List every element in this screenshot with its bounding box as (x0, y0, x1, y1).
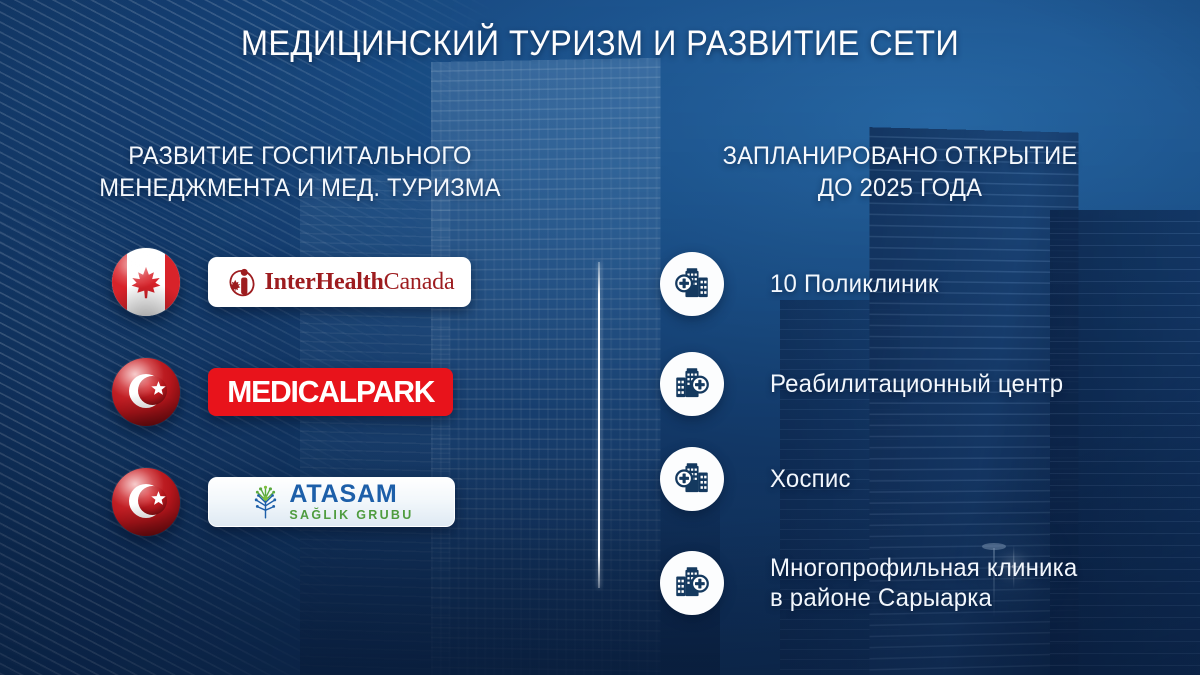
atasam-wordmark: ATASAM SAĞLIK GRUBU (289, 482, 413, 522)
interhealth-canada-logo[interactable]: InterHealthCanada (208, 257, 471, 307)
star-icon (150, 380, 167, 397)
canada-flag-right-band (165, 248, 180, 316)
hospital-plus-right-icon (660, 352, 724, 416)
canada-flag-orb (112, 248, 180, 316)
page-title: МЕДИЦИНСКИЙ ТУРИЗМ И РАЗВИТИЕ СЕТИ (42, 24, 1158, 64)
left-heading-line-2: МЕНЕДЖМЕНТА И МЕД. ТУРИЗМА (53, 172, 547, 204)
star-icon (150, 490, 167, 507)
right-heading-line-2: ДО 2025 ГОДА (653, 172, 1147, 204)
hospital-plus-left-icon (660, 447, 724, 511)
canada-light-text: Canada (384, 269, 455, 295)
plan-item[interactable]: Многопрофильная клиника в районе Сарыарк… (660, 551, 1090, 615)
interhealth-mark-icon (225, 265, 259, 299)
plan-item[interactable]: Хоспис (660, 447, 854, 511)
left-column-heading: РАЗВИТИЕ ГОСПИТАЛЬНОГО МЕНЕДЖМЕНТА И МЕД… (53, 140, 547, 204)
medicalpark-wordmark: MEDICALPARK (227, 374, 434, 410)
left-heading-line-1: РАЗВИТИЕ ГОСПИТАЛЬНОГО (53, 140, 547, 172)
right-column-heading: ЗАПЛАНИРОВАНО ОТКРЫТИЕ ДО 2025 ГОДА (653, 140, 1147, 204)
plan-item[interactable]: 10 Поликлиник (660, 252, 946, 316)
plan-item-label: Хоспис (770, 464, 851, 494)
plan-item-label: Многопрофильная клиника в районе Сарыарк… (770, 553, 1077, 613)
hospital-plus-right-icon (660, 551, 724, 615)
partner-row[interactable]: ATASAM SAĞLIK GRUBU (112, 468, 455, 536)
partner-row[interactable]: MEDICALPARK (112, 358, 453, 426)
hospital-plus-left-icon (660, 252, 724, 316)
right-heading-line-1: ЗАПЛАНИРОВАНО ОТКРЫТИЕ (653, 140, 1147, 172)
canada-flag-left-band (112, 248, 127, 316)
atasam-logo[interactable]: ATASAM SAĞLIK GRUBU (208, 477, 455, 527)
atasam-name-text: ATASAM (289, 482, 413, 507)
partner-row[interactable]: InterHealthCanada (112, 248, 471, 316)
turkey-flag-orb (112, 468, 180, 536)
interhealth-canada-wordmark: InterHealthCanada (265, 269, 455, 296)
atasam-tagline-text: SAĞLIK GRUBU (289, 509, 413, 522)
column-divider (598, 262, 600, 588)
turkey-flag-orb (112, 358, 180, 426)
plan-item[interactable]: Реабилитационный центр (660, 352, 1075, 416)
medicalpark-logo[interactable]: MEDICALPARK (208, 368, 453, 416)
plan-item-label: 10 Поликлиник (770, 269, 939, 299)
interhealth-bold-text: InterHealth (265, 269, 384, 295)
plan-item-label: Реабилитационный центр (770, 369, 1063, 399)
maple-leaf-icon (128, 264, 164, 300)
atasam-tree-emblem-icon (249, 484, 282, 520)
slide-root: МЕДИЦИНСКИЙ ТУРИЗМ И РАЗВИТИЕ СЕТИ РАЗВИ… (0, 0, 1200, 675)
